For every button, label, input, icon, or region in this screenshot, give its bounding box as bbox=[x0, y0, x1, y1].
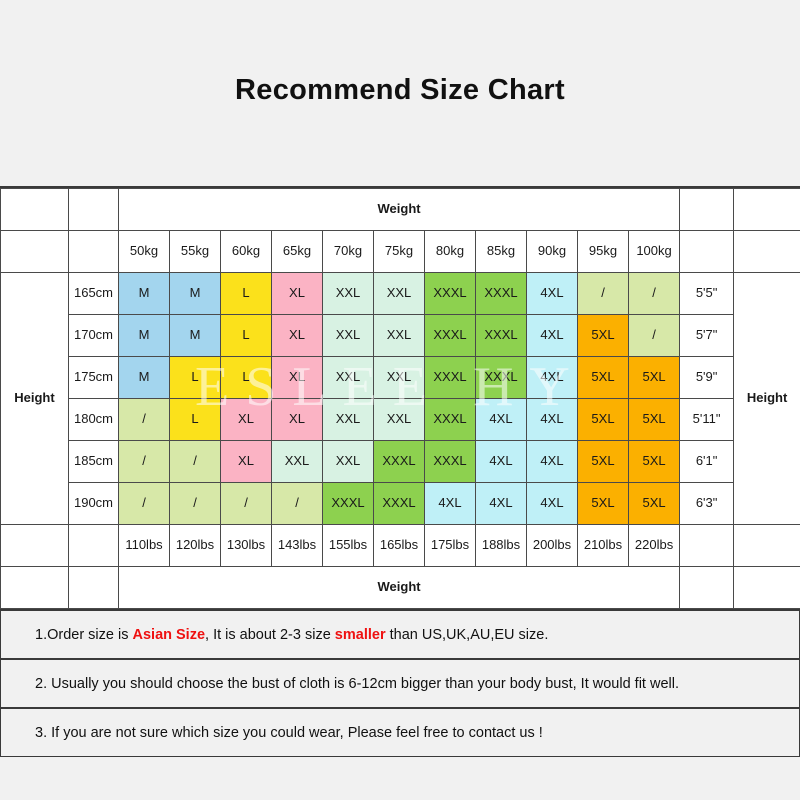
size-cell-r4-c4[interactable]: XXL bbox=[323, 441, 374, 483]
page-title: Recommend Size Chart bbox=[235, 74, 565, 107]
size-cell-r3-c7[interactable]: 4XL bbox=[476, 399, 527, 441]
weight-kg-header-4: 70kg bbox=[323, 231, 374, 273]
size-cell-r4-c7[interactable]: 4XL bbox=[476, 441, 527, 483]
spacer-cell bbox=[69, 525, 119, 567]
size-cell-r0-c7[interactable]: XXXL bbox=[476, 273, 527, 315]
size-cell-r0-c5[interactable]: XXL bbox=[374, 273, 425, 315]
height-cm-4: 185cm bbox=[69, 441, 119, 483]
size-cell-r4-c6[interactable]: XXXL bbox=[425, 441, 476, 483]
weight-lbs-header-4: 155lbs bbox=[323, 525, 374, 567]
spacer-cell bbox=[734, 189, 800, 231]
size-cell-r4-c1[interactable]: / bbox=[170, 441, 221, 483]
spacer-cell bbox=[69, 231, 119, 273]
size-cell-r4-c10[interactable]: 5XL bbox=[629, 441, 680, 483]
size-cell-r1-c10[interactable]: / bbox=[629, 315, 680, 357]
size-cell-r1-c6[interactable]: XXXL bbox=[425, 315, 476, 357]
size-cell-r4-c3[interactable]: XXL bbox=[272, 441, 323, 483]
size-cell-r5-c4[interactable]: XXXL bbox=[323, 483, 374, 525]
weight-kg-header-3: 65kg bbox=[272, 231, 323, 273]
size-cell-r5-c10[interactable]: 5XL bbox=[629, 483, 680, 525]
height-ft-5: 6'3" bbox=[680, 483, 734, 525]
size-cell-r3-c8[interactable]: 4XL bbox=[527, 399, 578, 441]
size-cell-r3-c5[interactable]: XXL bbox=[374, 399, 425, 441]
size-cell-r3-c3[interactable]: XL bbox=[272, 399, 323, 441]
size-cell-r5-c5[interactable]: XXXL bbox=[374, 483, 425, 525]
spacer-cell bbox=[69, 567, 119, 609]
weight-lbs-header-2: 130lbs bbox=[221, 525, 272, 567]
height-cm-1: 170cm bbox=[69, 315, 119, 357]
height-ft-0: 5'5" bbox=[680, 273, 734, 315]
size-cell-r2-c10[interactable]: 5XL bbox=[629, 357, 680, 399]
spacer-cell bbox=[680, 567, 734, 609]
size-cell-r3-c6[interactable]: XXXL bbox=[425, 399, 476, 441]
size-chart-body: Weight50kg55kg60kg65kg70kg75kg80kg85kg90… bbox=[1, 189, 800, 609]
note-text-1: 1.Order size is Asian Size, It is about … bbox=[35, 627, 548, 643]
size-cell-r3-c4[interactable]: XXL bbox=[323, 399, 374, 441]
size-cell-r0-c9[interactable]: / bbox=[578, 273, 629, 315]
weight-kg-header-1: 55kg bbox=[170, 231, 221, 273]
weight-lbs-header-0: 110lbs bbox=[119, 525, 170, 567]
size-cell-r4-c0[interactable]: / bbox=[119, 441, 170, 483]
weight-kg-header-9: 95kg bbox=[578, 231, 629, 273]
height-cm-5: 190cm bbox=[69, 483, 119, 525]
size-cell-r0-c3[interactable]: XL bbox=[272, 273, 323, 315]
size-cell-r1-c9[interactable]: 5XL bbox=[578, 315, 629, 357]
size-cell-r0-c6[interactable]: XXXL bbox=[425, 273, 476, 315]
height-ft-3: 5'11" bbox=[680, 399, 734, 441]
size-cell-r0-c0[interactable]: M bbox=[119, 273, 170, 315]
weight-kg-header-5: 75kg bbox=[374, 231, 425, 273]
size-cell-r5-c7[interactable]: 4XL bbox=[476, 483, 527, 525]
height-axis-label-left: Height bbox=[1, 273, 69, 525]
spacer-cell bbox=[680, 525, 734, 567]
size-cell-r5-c0[interactable]: / bbox=[119, 483, 170, 525]
height-ft-1: 5'7" bbox=[680, 315, 734, 357]
note-text-2: 2. Usually you should choose the bust of… bbox=[35, 676, 679, 692]
note-text-3: 3. If you are not sure which size you co… bbox=[35, 725, 543, 741]
size-cell-r3-c0[interactable]: / bbox=[119, 399, 170, 441]
size-cell-r1-c3[interactable]: XL bbox=[272, 315, 323, 357]
size-cell-r5-c3[interactable]: / bbox=[272, 483, 323, 525]
note-row-3: 3. If you are not sure which size you co… bbox=[0, 707, 800, 757]
note-plain: 1.Order size is bbox=[35, 627, 133, 643]
size-cell-r4-c5[interactable]: XXXL bbox=[374, 441, 425, 483]
size-cell-r5-c1[interactable]: / bbox=[170, 483, 221, 525]
spacer-cell bbox=[734, 231, 800, 273]
spacer-cell bbox=[680, 231, 734, 273]
size-cell-r1-c2[interactable]: L bbox=[221, 315, 272, 357]
table-row: 180cm/LXLXLXXLXXLXXXL4XL4XL5XL5XL5'11" bbox=[1, 399, 800, 441]
size-cell-r2-c1[interactable]: L bbox=[170, 357, 221, 399]
size-cell-r3-c1[interactable]: L bbox=[170, 399, 221, 441]
size-cell-r0-c4[interactable]: XXL bbox=[323, 273, 374, 315]
table-row: 185cm//XLXXLXXLXXXLXXXL4XL4XL5XL5XL6'1" bbox=[1, 441, 800, 483]
note-plain: , It is about 2-3 size bbox=[205, 627, 335, 643]
height-cm-0: 165cm bbox=[69, 273, 119, 315]
size-cell-r2-c4[interactable]: XXL bbox=[323, 357, 374, 399]
table-row: Height165cmMMLXLXXLXXLXXXLXXXL4XL//5'5"H… bbox=[1, 273, 800, 315]
note-highlight: smaller bbox=[335, 627, 386, 643]
spacer-cell bbox=[1, 189, 69, 231]
note-highlight: Asian Size bbox=[133, 627, 206, 643]
size-cell-r2-c8[interactable]: 4XL bbox=[527, 357, 578, 399]
spacer-cell bbox=[1, 567, 69, 609]
size-cell-r3-c2[interactable]: XL bbox=[221, 399, 272, 441]
size-cell-r3-c9[interactable]: 5XL bbox=[578, 399, 629, 441]
weight-lbs-header-5: 165lbs bbox=[374, 525, 425, 567]
weight-kg-header-7: 85kg bbox=[476, 231, 527, 273]
spacer-cell bbox=[734, 525, 800, 567]
size-cell-r2-c2[interactable]: L bbox=[221, 357, 272, 399]
size-cell-r4-c2[interactable]: XL bbox=[221, 441, 272, 483]
size-cell-r3-c10[interactable]: 5XL bbox=[629, 399, 680, 441]
size-cell-r2-c7[interactable]: XXXL bbox=[476, 357, 527, 399]
height-axis-label-right: Height bbox=[734, 273, 800, 525]
size-cell-r1-c0[interactable]: M bbox=[119, 315, 170, 357]
size-chart-table: Weight50kg55kg60kg65kg70kg75kg80kg85kg90… bbox=[0, 188, 800, 609]
height-cm-2: 175cm bbox=[69, 357, 119, 399]
weight-lbs-header-7: 188lbs bbox=[476, 525, 527, 567]
weight-kg-header-10: 100kg bbox=[629, 231, 680, 273]
size-cell-r5-c2[interactable]: / bbox=[221, 483, 272, 525]
size-cell-r1-c8[interactable]: 4XL bbox=[527, 315, 578, 357]
size-cell-r0-c10[interactable]: / bbox=[629, 273, 680, 315]
height-ft-4: 6'1" bbox=[680, 441, 734, 483]
size-chart-table-wrapper: Weight50kg55kg60kg65kg70kg75kg80kg85kg90… bbox=[0, 188, 800, 609]
weight-axis-label-top: Weight bbox=[119, 189, 680, 231]
weight-axis-label-bottom: Weight bbox=[119, 567, 680, 609]
weight-kg-header-2: 60kg bbox=[221, 231, 272, 273]
spacer-cell bbox=[69, 189, 119, 231]
weight-kg-header-8: 90kg bbox=[527, 231, 578, 273]
size-cell-r4-c9[interactable]: 5XL bbox=[578, 441, 629, 483]
note-plain: than US,UK,AU,EU size. bbox=[386, 627, 549, 643]
weight-lbs-header-8: 200lbs bbox=[527, 525, 578, 567]
weight-header-row: Weight bbox=[1, 189, 800, 231]
note-plain: 3. If you are not sure which size you co… bbox=[35, 725, 543, 741]
weight-lbs-header-10: 220lbs bbox=[629, 525, 680, 567]
size-cell-r1-c4[interactable]: XXL bbox=[323, 315, 374, 357]
height-ft-2: 5'9" bbox=[680, 357, 734, 399]
weight-kg-header-6: 80kg bbox=[425, 231, 476, 273]
size-cell-r2-c6[interactable]: XXXL bbox=[425, 357, 476, 399]
title-band: Recommend Size Chart bbox=[0, 0, 800, 188]
table-row: 190cm////XXXLXXXL4XL4XL4XL5XL5XL6'3" bbox=[1, 483, 800, 525]
size-cell-r4-c8[interactable]: 4XL bbox=[527, 441, 578, 483]
spacer-cell bbox=[734, 567, 800, 609]
weight-footer-row: Weight bbox=[1, 567, 800, 609]
note-row-2: 2. Usually you should choose the bust of… bbox=[0, 658, 800, 708]
size-cell-r1-c5[interactable]: XXL bbox=[374, 315, 425, 357]
spacer-cell bbox=[680, 189, 734, 231]
size-cell-r2-c9[interactable]: 5XL bbox=[578, 357, 629, 399]
weight-lbs-row: 110lbs120lbs130lbs143lbs155lbs165lbs175l… bbox=[1, 525, 800, 567]
note-row-1: 1.Order size is Asian Size, It is about … bbox=[0, 609, 800, 659]
table-row: 175cmMLLXLXXLXXLXXXLXXXL4XL5XL5XL5'9" bbox=[1, 357, 800, 399]
size-cell-r0-c2[interactable]: L bbox=[221, 273, 272, 315]
weight-kg-row: 50kg55kg60kg65kg70kg75kg80kg85kg90kg95kg… bbox=[1, 231, 800, 273]
size-cell-r1-c7[interactable]: XXXL bbox=[476, 315, 527, 357]
weight-lbs-header-1: 120lbs bbox=[170, 525, 221, 567]
table-row: 170cmMMLXLXXLXXLXXXLXXXL4XL5XL/5'7" bbox=[1, 315, 800, 357]
weight-lbs-header-9: 210lbs bbox=[578, 525, 629, 567]
size-cell-r2-c3[interactable]: XL bbox=[272, 357, 323, 399]
size-cell-r2-c0[interactable]: M bbox=[119, 357, 170, 399]
size-chart-page: Recommend Size Chart Weight50kg55kg60kg6… bbox=[0, 0, 800, 800]
weight-lbs-header-6: 175lbs bbox=[425, 525, 476, 567]
size-cell-r5-c9[interactable]: 5XL bbox=[578, 483, 629, 525]
spacer-cell bbox=[1, 525, 69, 567]
size-cell-r5-c6[interactable]: 4XL bbox=[425, 483, 476, 525]
size-cell-r0-c8[interactable]: 4XL bbox=[527, 273, 578, 315]
note-plain: 2. Usually you should choose the bust of… bbox=[35, 676, 679, 692]
size-cell-r5-c8[interactable]: 4XL bbox=[527, 483, 578, 525]
height-cm-3: 180cm bbox=[69, 399, 119, 441]
size-cell-r1-c1[interactable]: M bbox=[170, 315, 221, 357]
size-cell-r2-c5[interactable]: XXL bbox=[374, 357, 425, 399]
notes-section: 1.Order size is Asian Size, It is about … bbox=[0, 609, 800, 757]
weight-lbs-header-3: 143lbs bbox=[272, 525, 323, 567]
size-cell-r0-c1[interactable]: M bbox=[170, 273, 221, 315]
weight-kg-header-0: 50kg bbox=[119, 231, 170, 273]
spacer-cell bbox=[1, 231, 69, 273]
